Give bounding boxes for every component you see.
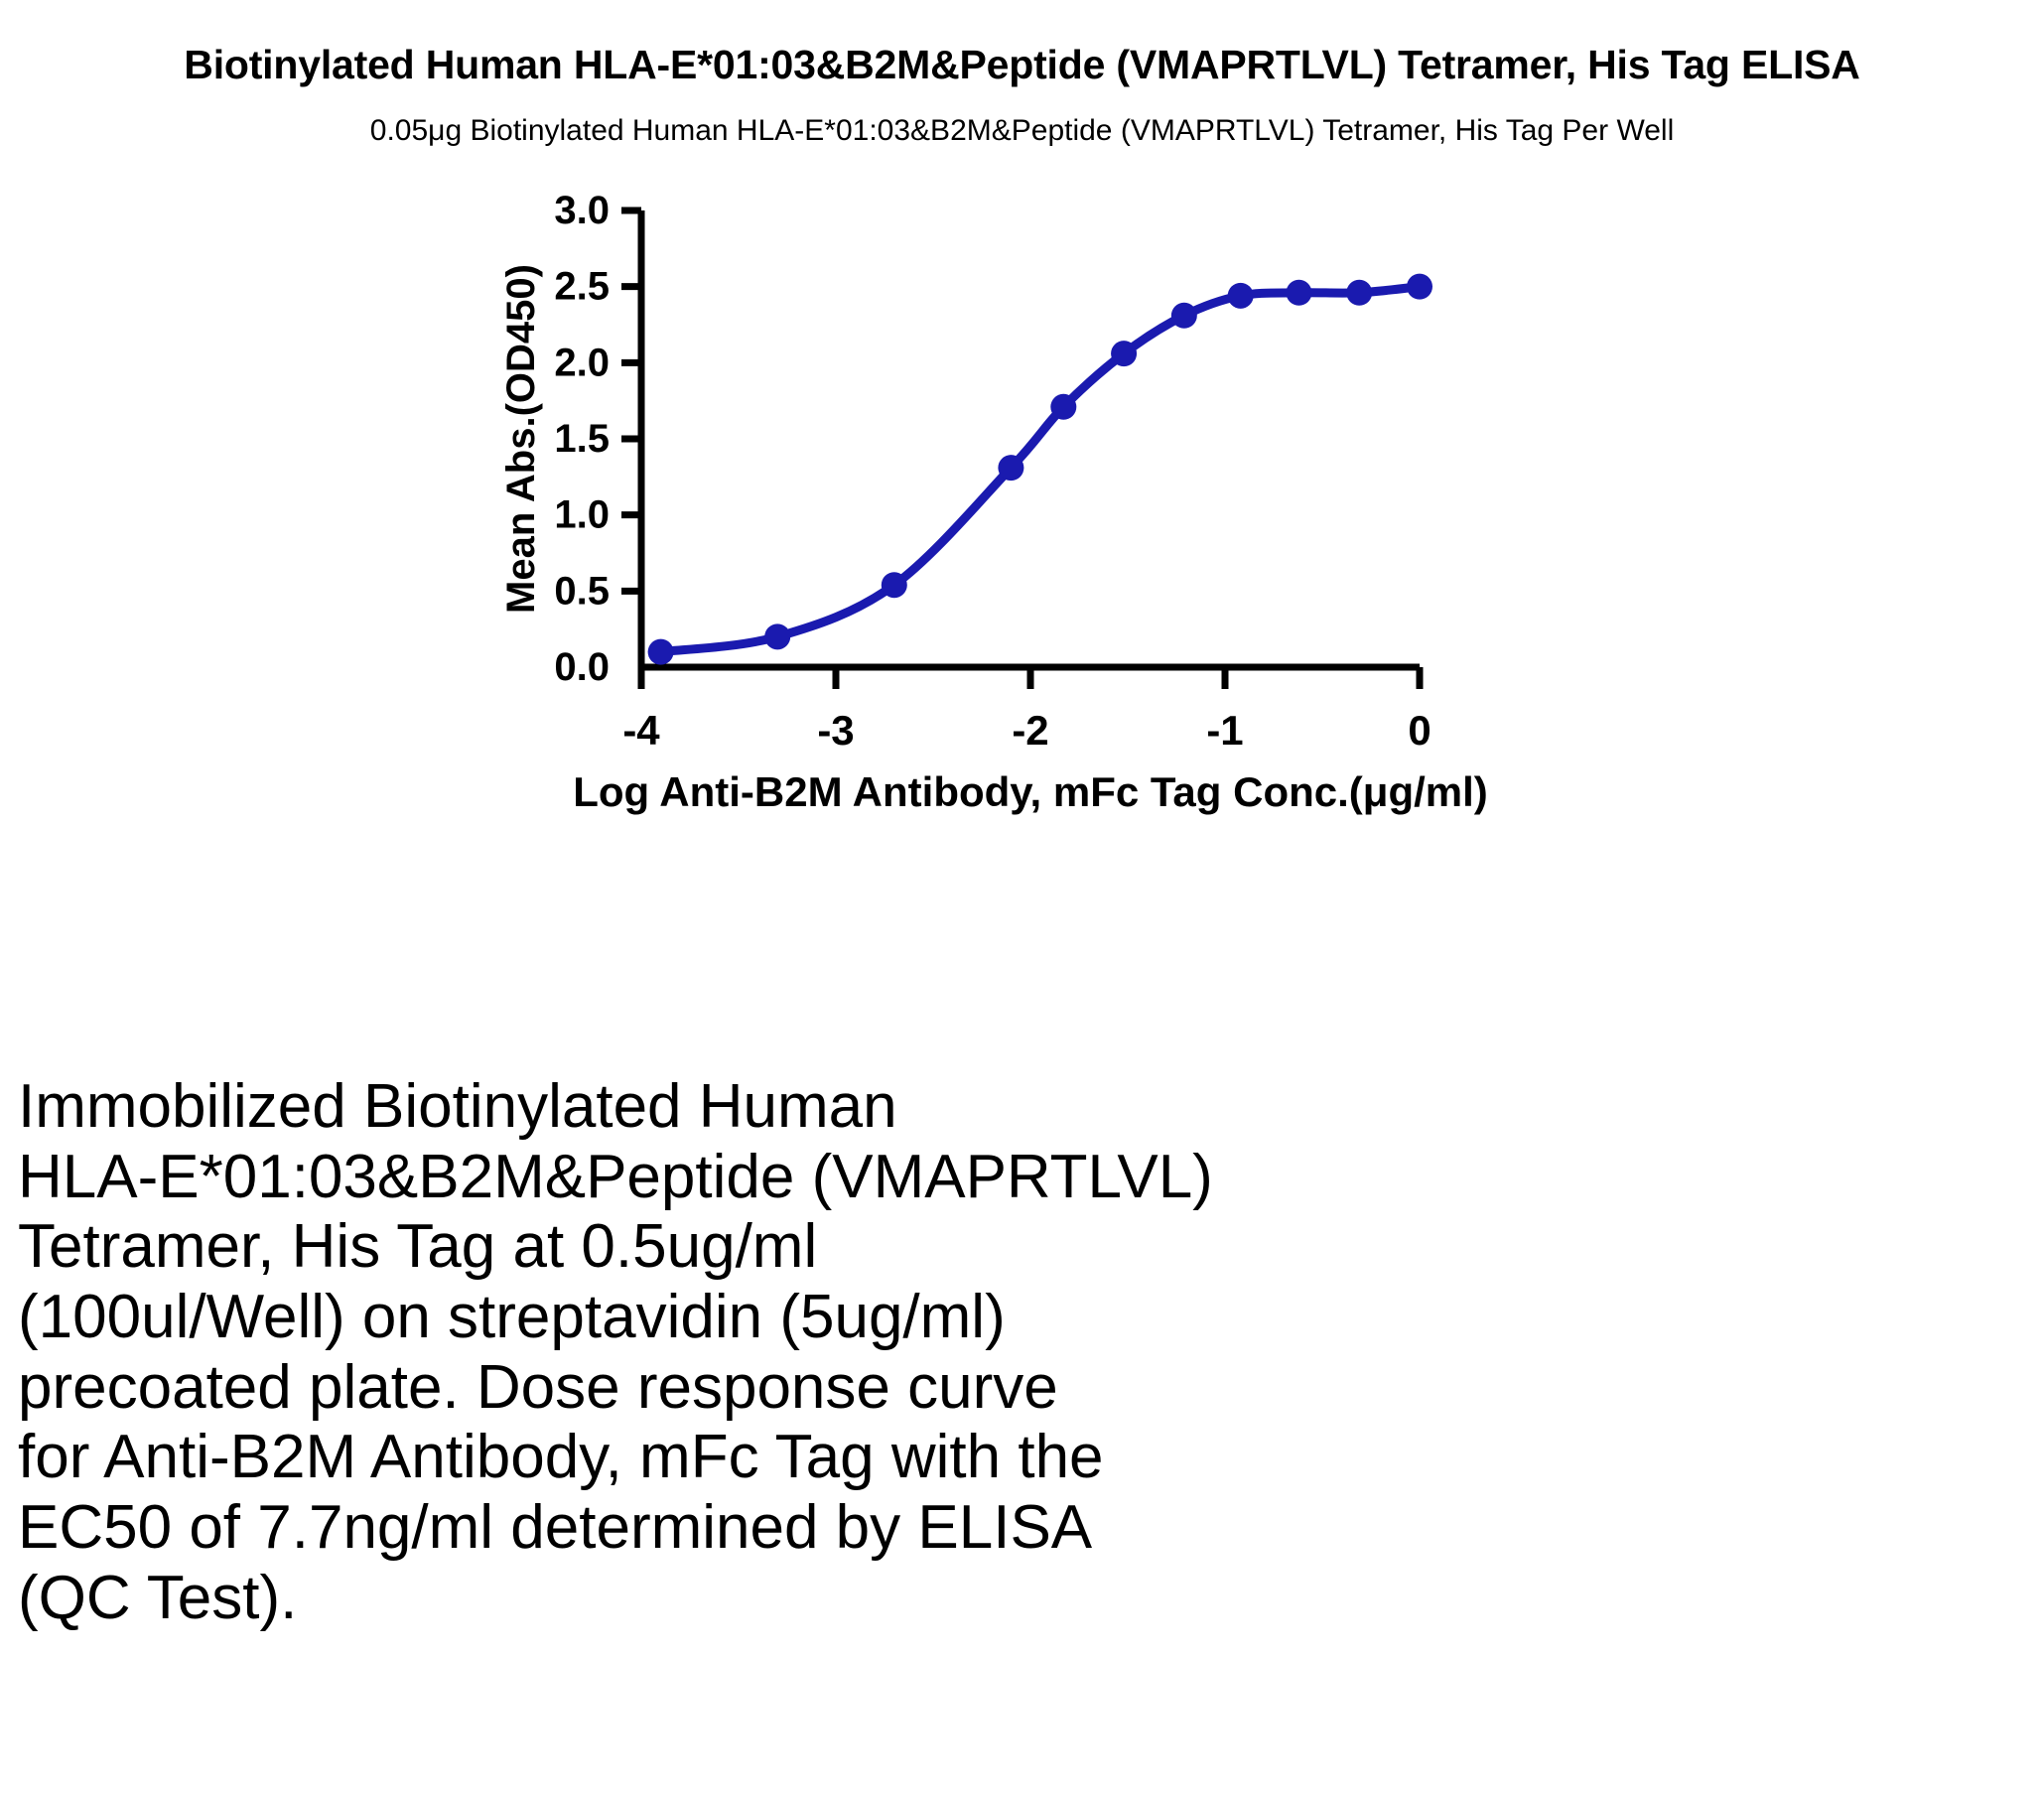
chart-svg: 0.00.51.01.52.02.53.0-4-3-2-10Log Anti-B…: [0, 174, 2044, 1018]
series-line: [661, 287, 1420, 652]
y-tick-label: 1.0: [554, 493, 610, 537]
caption-line: precoated plate. Dose response curve: [18, 1353, 1626, 1424]
data-point: [1228, 283, 1254, 309]
data-point: [882, 572, 907, 598]
figure-caption: Immobilized Biotinylated Human HLA-E*01:…: [18, 1072, 1626, 1633]
caption-line: HLA-E*01:03&B2M&Peptide (VMAPRTLVL): [18, 1143, 1626, 1213]
caption-line: Tetramer, His Tag at 0.5ug/ml: [18, 1212, 1626, 1283]
caption-line: EC50 of 7.7ng/ml determined by ELISA: [18, 1493, 1626, 1564]
x-tick-label: -2: [1012, 707, 1048, 754]
elisa-dose-response-chart: 0.00.51.01.52.02.53.0-4-3-2-10Log Anti-B…: [0, 174, 2044, 1018]
y-tick-label: 1.5: [554, 417, 610, 461]
x-axis-label: Log Anti-B2M Antibody, mFc Tag Conc.(μg/…: [573, 768, 1488, 815]
caption-line: (100ul/Well) on streptavidin (5ug/ml): [18, 1283, 1626, 1353]
data-point: [1111, 341, 1137, 366]
x-tick-label: -4: [622, 707, 660, 754]
y-tick-label: 0.0: [554, 645, 610, 689]
figure-page: Biotinylated Human HLA-E*01:03&B2M&Pepti…: [0, 0, 2044, 1795]
data-point: [998, 455, 1023, 481]
y-tick-label: 2.5: [554, 265, 610, 309]
data-point: [1050, 394, 1076, 420]
figure-subtitle: 0.05μg Biotinylated Human HLA-E*01:03&B2…: [0, 114, 2044, 148]
data-point: [1171, 303, 1197, 329]
x-tick-label: 0: [1408, 707, 1431, 754]
figure-title: Biotinylated Human HLA-E*01:03&B2M&Pepti…: [0, 42, 2044, 88]
y-tick-label: 3.0: [554, 189, 610, 232]
data-point: [1286, 280, 1311, 306]
caption-line: Immobilized Biotinylated Human: [18, 1072, 1626, 1143]
data-point: [1346, 280, 1372, 306]
caption-line: (QC Test).: [18, 1564, 1626, 1634]
x-tick-label: -1: [1206, 707, 1243, 754]
y-tick-label: 0.5: [554, 569, 610, 613]
data-point: [764, 623, 790, 649]
caption-line: for Anti-B2M Antibody, mFc Tag with the: [18, 1423, 1626, 1493]
data-point: [1407, 274, 1432, 300]
x-tick-label: -3: [817, 707, 854, 754]
y-tick-label: 2.0: [554, 341, 610, 384]
data-point: [648, 639, 674, 665]
y-axis-label: Mean Abs.(OD450): [499, 264, 543, 614]
